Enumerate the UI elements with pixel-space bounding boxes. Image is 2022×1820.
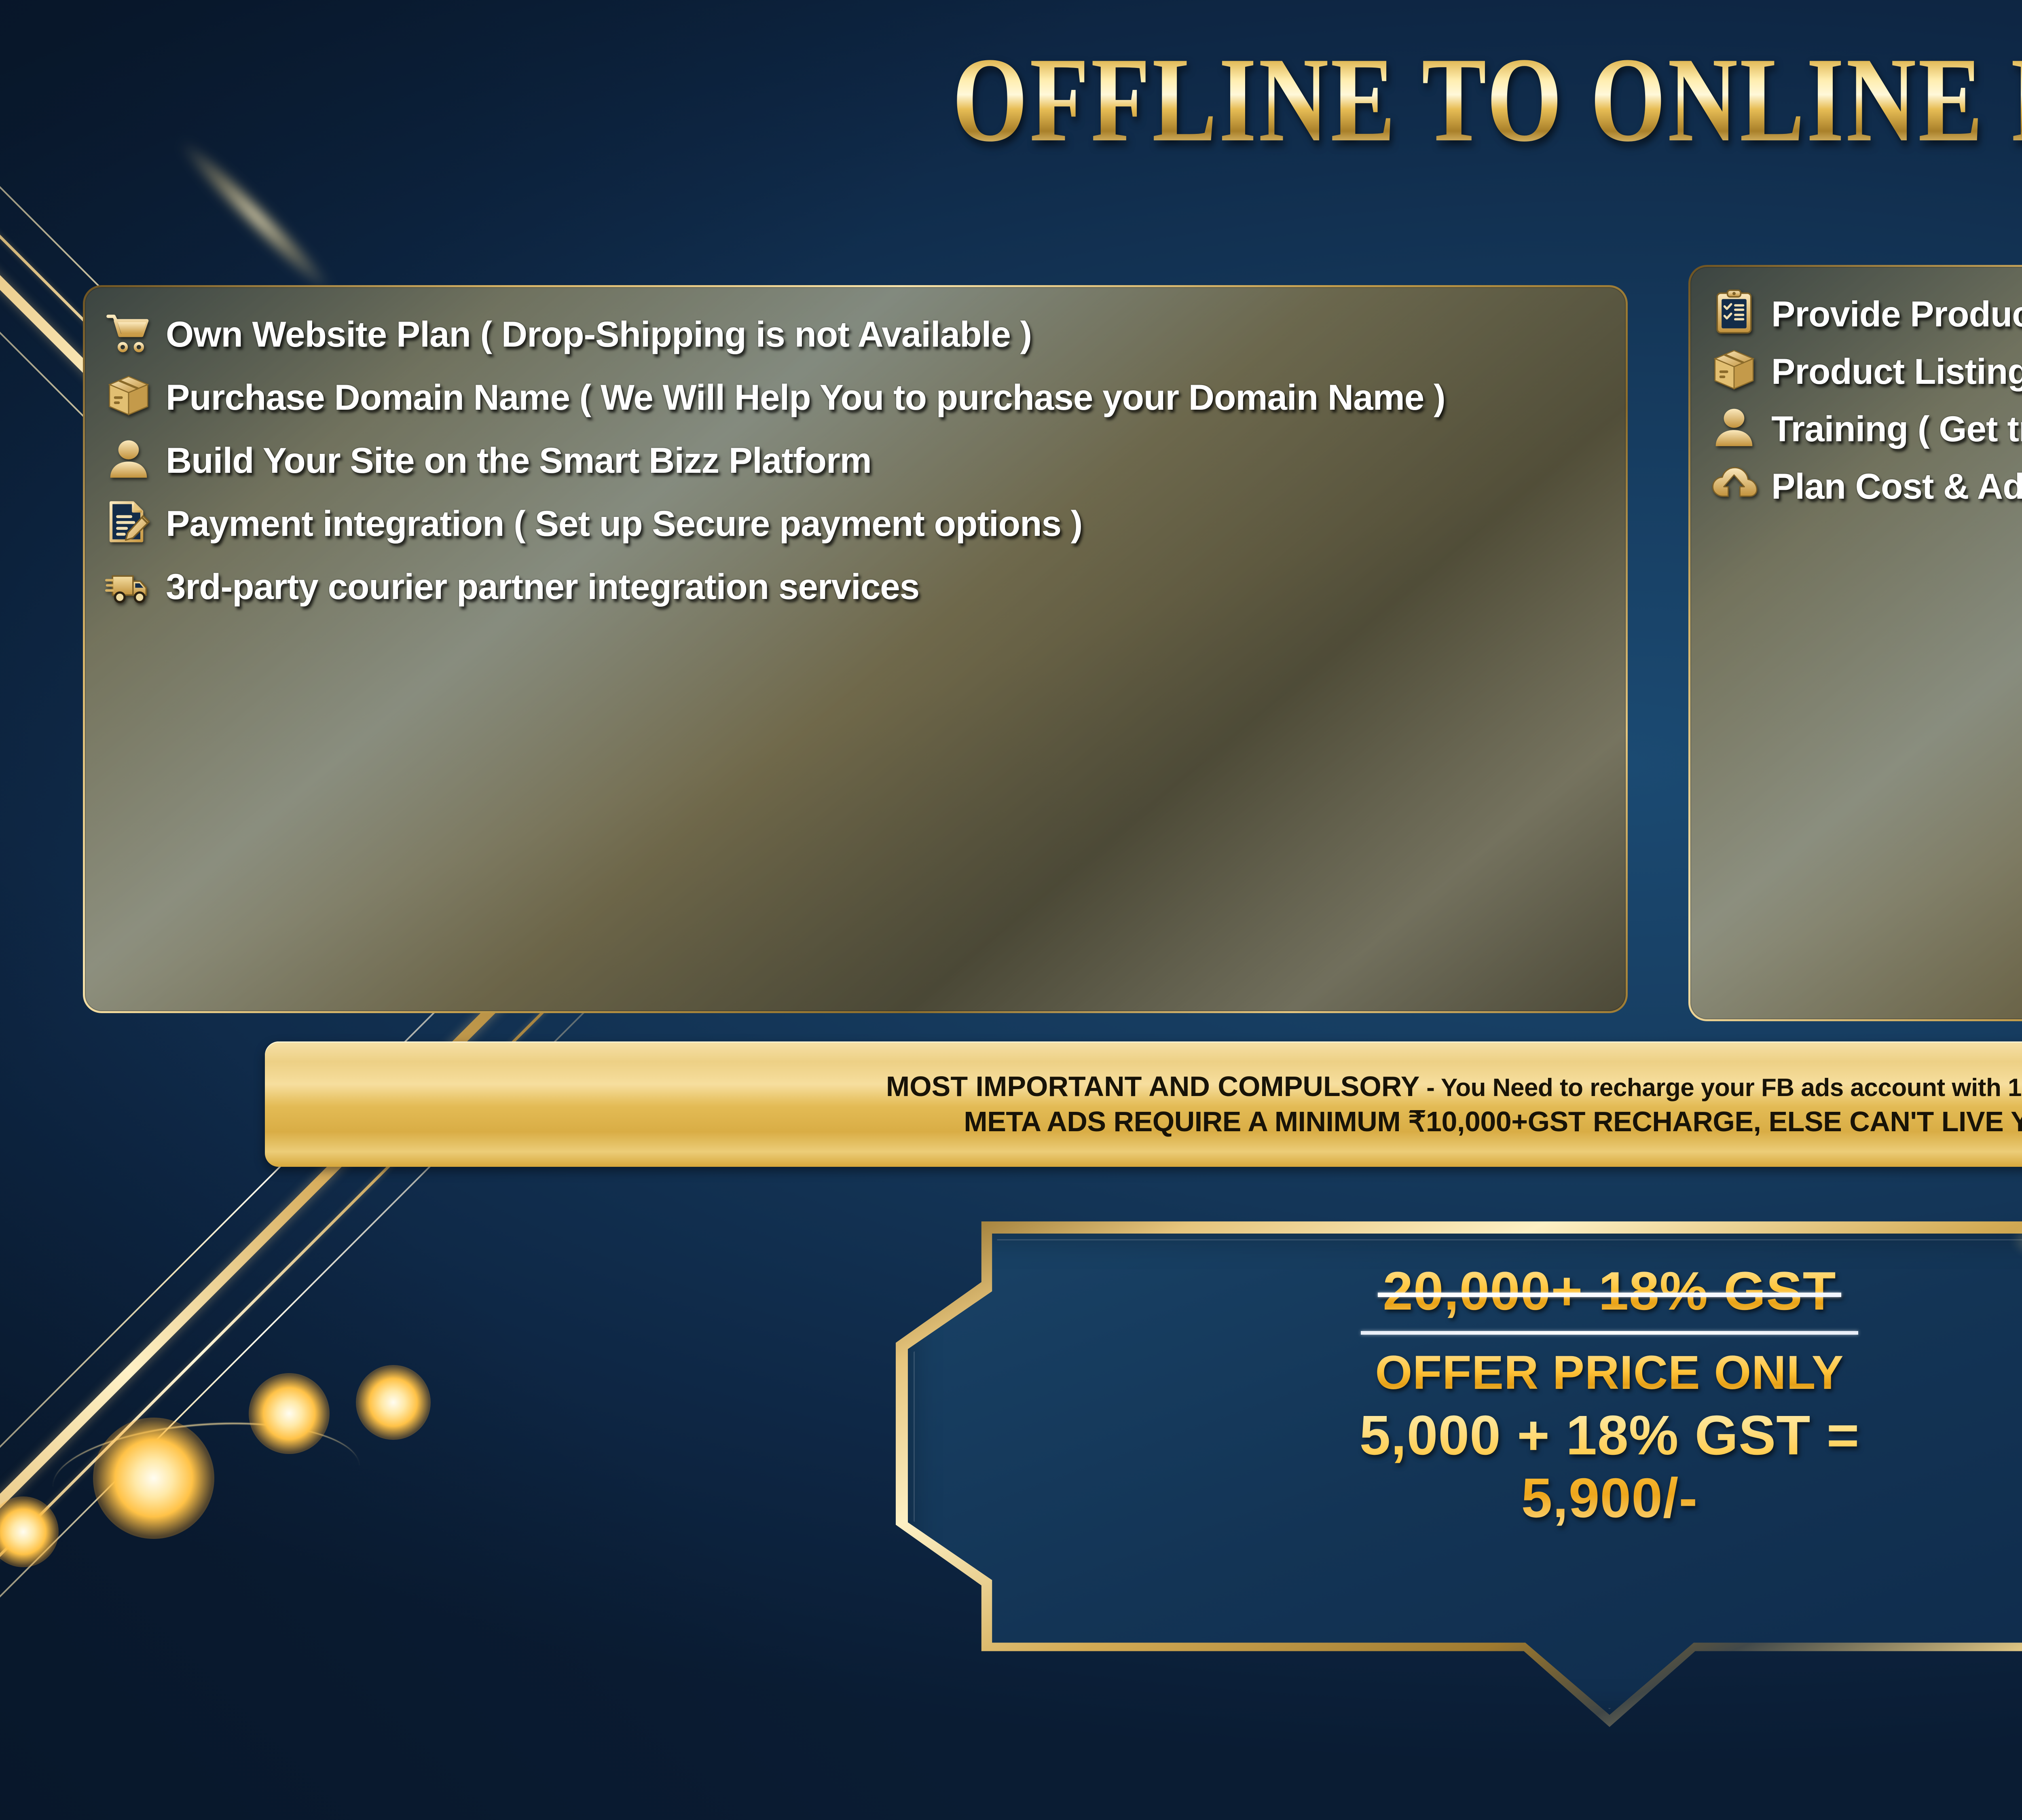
offer-price-line-2: 5,900/- xyxy=(896,1467,2022,1530)
important-notice-banner: MOST IMPORTANT AND COMPULSORY - You Need… xyxy=(265,1041,2022,1167)
feature-item: Payment integration ( Set up Secure paym… xyxy=(105,501,1603,545)
notice-line-1-rest: - You Need to recharge your FB ads accou… xyxy=(1419,1074,2022,1102)
notice-line-1: MOST IMPORTANT AND COMPULSORY - You Need… xyxy=(886,1070,2022,1103)
features-card-left: Own Website Plan ( Drop-Shipping is not … xyxy=(83,285,1628,1013)
feature-item: 3rd-party courier partner integration se… xyxy=(105,564,1603,608)
feature-item: Own Website Plan ( Drop-Shipping is not … xyxy=(105,311,1603,356)
feature-label: Purchase Domain Name ( We Will Help You … xyxy=(166,375,1445,419)
feature-item: Plan Cost & Ads ( 5,000+ tax ( Plan Fee … xyxy=(1711,463,2022,508)
package-box-icon xyxy=(105,372,152,419)
feature-label: Product Listing ( We will List 20 produc… xyxy=(1771,349,2022,393)
feature-item: Purchase Domain Name ( We Will Help You … xyxy=(105,375,1603,419)
feature-item: Build Your Site on the Smart Bizz Platfo… xyxy=(105,438,1603,482)
person-icon xyxy=(1711,404,1758,451)
original-price-strikethrough: 20,000+ 18% GST xyxy=(1383,1260,1836,1322)
features-card-right: Provide Product Info ( Client provides p… xyxy=(1688,265,2022,1021)
shopping-cart-icon xyxy=(105,309,152,356)
package-box-icon xyxy=(1711,346,1758,393)
price-divider xyxy=(1361,1331,1858,1335)
offer-price-label: OFFER PRICE ONLY xyxy=(896,1345,2022,1400)
feature-item: Product Listing ( We will List 20 produc… xyxy=(1711,349,2022,393)
feature-label: Plan Cost & Ads ( 5,000+ tax ( Plan Fee … xyxy=(1771,463,2022,508)
page-title: OFFLINE TO ONLINE PLAN xyxy=(324,39,2022,160)
feature-label: 3rd-party courier partner integration se… xyxy=(166,564,919,608)
notice-line-2: META ADS REQUIRE A MINIMUM ₹10,000+GST R… xyxy=(964,1105,2022,1138)
clipboard-checklist-icon xyxy=(1711,289,1758,336)
cloud-upload-icon xyxy=(1711,461,1758,508)
price-badge: 20,000+ 18% GST OFFER PRICE ONLY 5,000 +… xyxy=(896,1221,2022,1727)
feature-item: Training ( Get training for adding more … xyxy=(1711,406,2022,451)
feature-label: Provide Product Info ( Client provides p… xyxy=(1771,291,2022,335)
person-icon xyxy=(105,435,152,482)
document-pencil-icon xyxy=(105,498,152,545)
feature-label: Training ( Get training for adding more … xyxy=(1771,406,2022,450)
feature-label: Own Website Plan ( Drop-Shipping is not … xyxy=(166,311,1032,356)
feature-label: Payment integration ( Set up Secure paym… xyxy=(166,501,1082,545)
notice-line-1-strong: MOST IMPORTANT AND COMPULSORY xyxy=(886,1071,1420,1102)
offer-price-line-1: 5,000 + 18% GST = xyxy=(896,1404,2022,1467)
feature-label: Build Your Site on the Smart Bizz Platfo… xyxy=(166,438,871,482)
feature-item: Provide Product Info ( Client provides p… xyxy=(1711,291,2022,336)
delivery-truck-icon xyxy=(105,561,152,608)
